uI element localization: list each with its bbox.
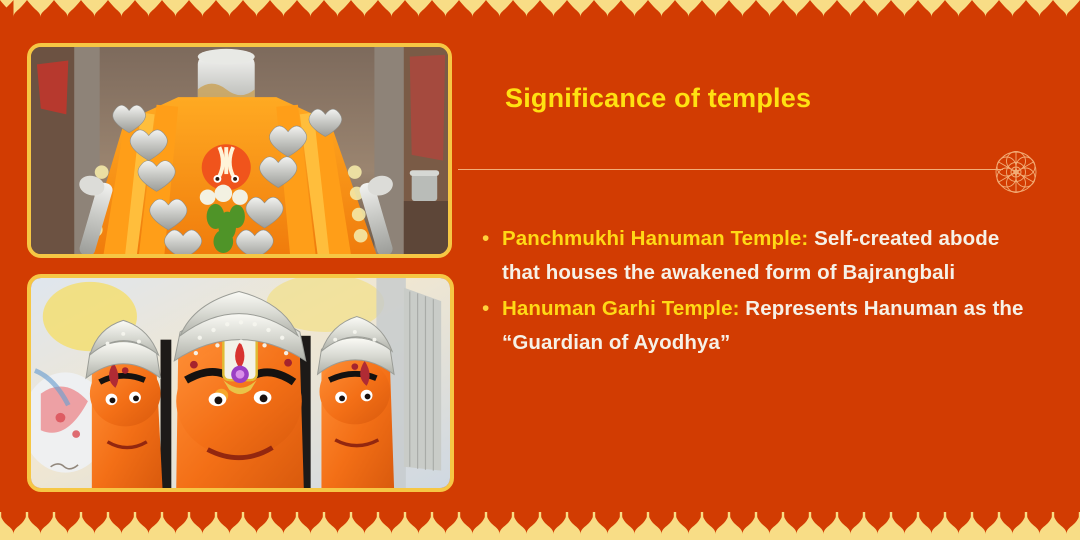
list-item-lead: Panchmukhi Hanuman Temple:	[502, 227, 808, 250]
mandala-rosette-icon	[994, 150, 1038, 194]
top-arch-pattern-icon	[0, 0, 1080, 28]
bottom-temple-dome-pattern-icon	[0, 512, 1080, 540]
hanuman-garhi-deity-photo	[27, 43, 452, 258]
top-decorative-border	[0, 0, 1080, 28]
bullet-marker-icon: •	[478, 292, 502, 326]
temple-deity-garlands-illustration	[31, 47, 448, 254]
list-item: • Panchmukhi Hanuman Temple: Self-create…	[478, 222, 1038, 290]
horizontal-rule-icon	[458, 169, 1003, 170]
list-item: • Hanuman Garhi Temple: Represents Hanum…	[478, 292, 1038, 360]
bullet-list: • Panchmukhi Hanuman Temple: Self-create…	[478, 222, 1038, 362]
five-faced-hanuman-idol-illustration	[31, 278, 450, 488]
bullet-marker-icon: •	[478, 222, 502, 256]
page-title: Significance of temples	[505, 82, 1065, 114]
slide-canvas: Significance of temples	[0, 0, 1080, 540]
list-item-text: Panchmukhi Hanuman Temple: Self-created …	[502, 222, 1038, 290]
list-item-lead: Hanuman Garhi Temple:	[502, 297, 740, 320]
list-item-text: Hanuman Garhi Temple: Represents Hanuman…	[502, 292, 1038, 360]
bottom-decorative-border	[0, 512, 1080, 540]
title-divider-group	[458, 150, 1058, 194]
panchmukhi-hanuman-idol-photo	[27, 274, 454, 492]
